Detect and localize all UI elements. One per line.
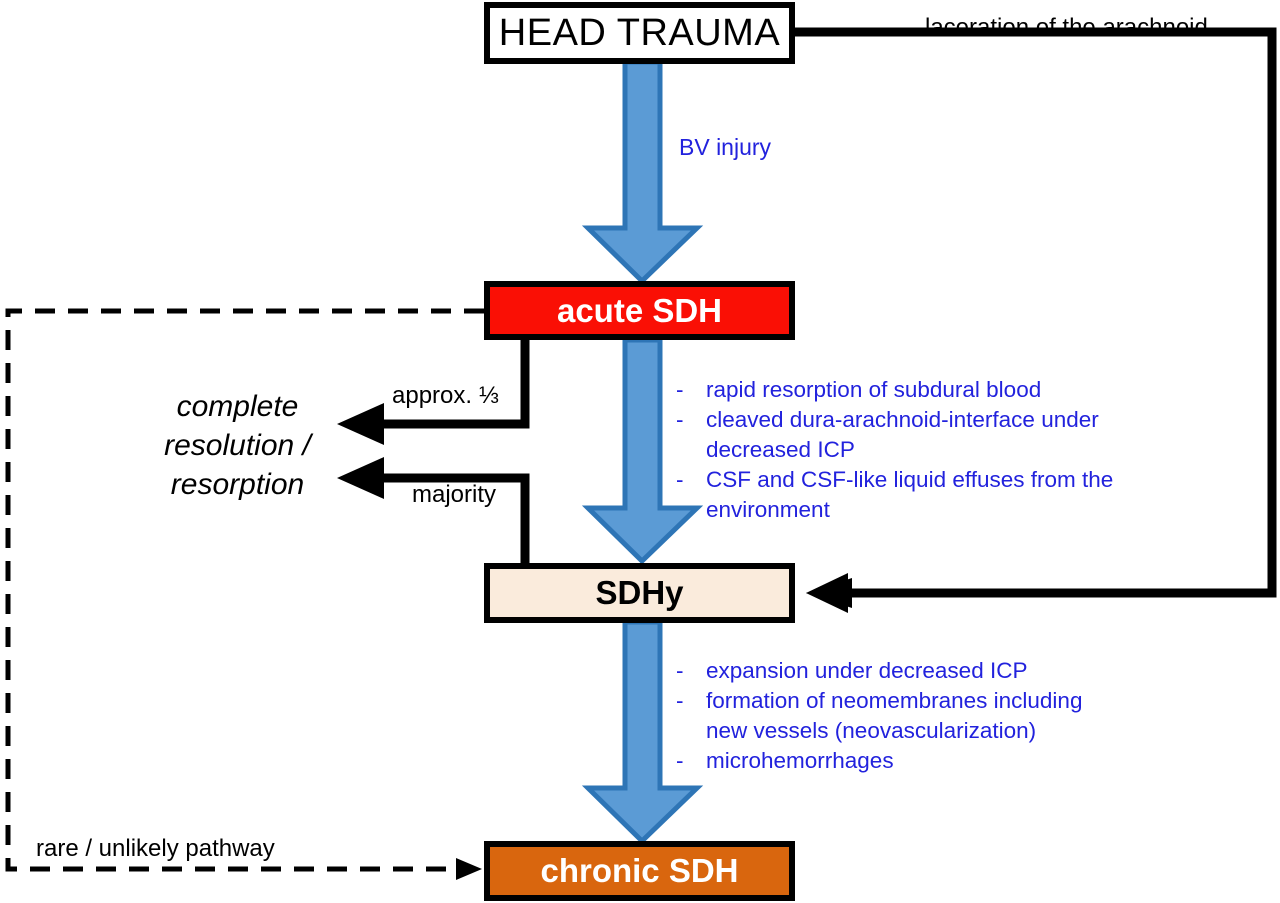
note-text: rapid resorption of subdural blood: [706, 375, 1196, 405]
node-complete-resolution-line3: resorption: [135, 465, 340, 504]
note-item: - formation of neomembranes including: [676, 686, 1176, 716]
bullet-dash: -: [676, 656, 706, 686]
diagram-canvas: HEAD TRAUMA acute SDH SDHy chronic SDH c…: [0, 0, 1280, 903]
node-chronic-sdh[interactable]: chronic SDH: [484, 841, 795, 901]
edge-label-approx-one-third: approx. ⅓: [392, 382, 499, 410]
note-text: decreased ICP: [706, 435, 1196, 465]
notes-acute-to-sdhy: - rapid resorption of subdural blood - c…: [676, 375, 1196, 525]
node-sdhy[interactable]: SDHy: [484, 563, 795, 623]
edge-label-bv-injury: BV injury: [679, 134, 771, 161]
note-item-continuation: environment: [676, 495, 1196, 525]
node-head-trauma[interactable]: HEAD TRAUMA: [484, 2, 795, 64]
bullet-dash: -: [676, 686, 706, 716]
notes-sdhy-to-chronic: - expansion under decreased ICP - format…: [676, 656, 1176, 776]
bullet-dash: -: [676, 405, 706, 435]
node-complete-resolution: complete resolution / resorption: [135, 387, 340, 504]
note-text: new vessels (neovascularization): [706, 716, 1176, 746]
node-head-trauma-label: HEAD TRAUMA: [499, 12, 780, 55]
edge-label-majority: majority: [412, 481, 496, 509]
bullet-dash: -: [676, 375, 706, 405]
node-acute-sdh[interactable]: acute SDH: [484, 281, 795, 340]
bullet-dash: -: [676, 465, 706, 495]
note-item-continuation: new vessels (neovascularization): [676, 716, 1176, 746]
node-sdhy-label: SDHy: [595, 574, 683, 612]
note-item: - cleaved dura-arachnoid-interface under: [676, 405, 1196, 435]
blue-arrow-head-to-acute: [588, 62, 697, 281]
note-item: - rapid resorption of subdural blood: [676, 375, 1196, 405]
node-complete-resolution-line1: complete: [135, 387, 340, 426]
node-complete-resolution-line2: resolution /: [135, 426, 340, 465]
note-text: CSF and CSF-like liquid effuses from the: [706, 465, 1196, 495]
note-item: - CSF and CSF-like liquid effuses from t…: [676, 465, 1196, 495]
note-item-continuation: decreased ICP: [676, 435, 1196, 465]
note-text: microhemorrhages: [706, 746, 1176, 776]
node-acute-sdh-label: acute SDH: [557, 292, 722, 330]
bullet-dash: -: [676, 746, 706, 776]
node-chronic-sdh-label: chronic SDH: [540, 852, 738, 890]
note-text: expansion under decreased ICP: [706, 656, 1176, 686]
note-text: formation of neomembranes including: [706, 686, 1176, 716]
edge-label-rare-unlikely-pathway: rare / unlikely pathway: [36, 835, 275, 863]
note-text: cleaved dura-arachnoid-interface under: [706, 405, 1196, 435]
edge-label-laceration-of-arachnoid: laceration of the arachnoid: [925, 14, 1208, 42]
note-item: - expansion under decreased ICP: [676, 656, 1176, 686]
note-text: environment: [706, 495, 1196, 525]
note-item: - microhemorrhages: [676, 746, 1176, 776]
